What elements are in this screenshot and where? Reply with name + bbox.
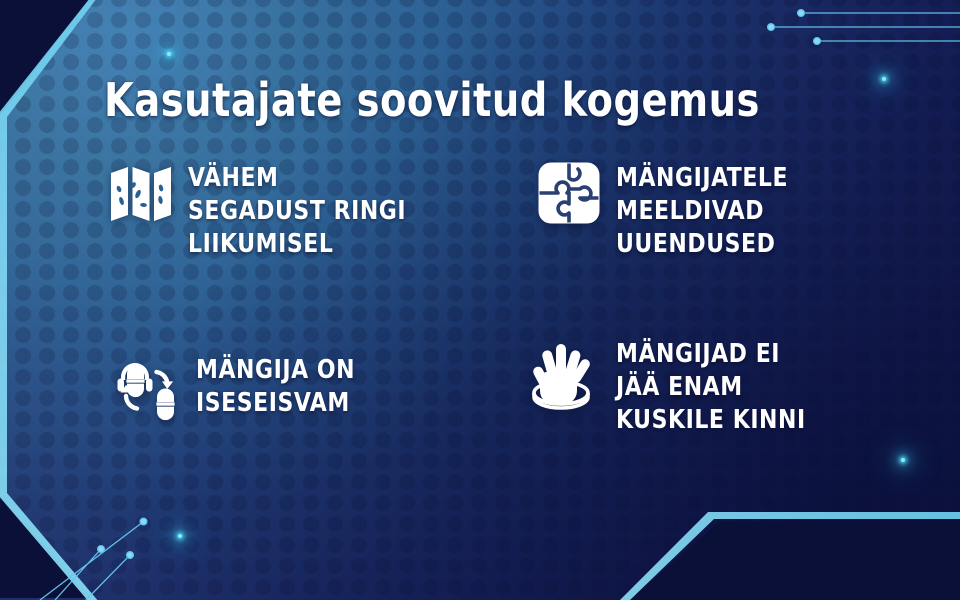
headset-avatar-swap-icon (110, 352, 182, 424)
sinking-hand-icon (520, 336, 602, 418)
feature-item-autonomy: MÄNGIJA ON ISESEISVAM (110, 352, 365, 424)
feature-item-updates: MÄNGIJATELE MEELDIVAD UUENDUSED (536, 160, 799, 261)
feature-label: MÄNGIJATELE MEELDIVAD UUENDUSED (616, 160, 788, 261)
feature-label: MÄNGIJA ON ISESEISVAM (196, 352, 355, 420)
feature-list: VÄHEM SEGADUST RINGI LIIKUMISEL (0, 0, 960, 600)
feature-label: VÄHEM SEGADUST RINGI LIIKUMISEL (188, 160, 406, 261)
folded-map-icon (108, 160, 174, 226)
feature-item-not-stuck: MÄNGIJAD EI JÄÄ ENAM KUSKILE KINNI (520, 336, 818, 437)
feature-item-navigation: VÄHEM SEGADUST RINGI LIIKUMISEL (108, 160, 420, 261)
puzzle-pieces-icon (536, 160, 602, 226)
feature-label: MÄNGIJAD EI JÄÄ ENAM KUSKILE KINNI (616, 336, 806, 437)
poster-canvas: Kasutajate soovitud kogemus (0, 0, 960, 600)
